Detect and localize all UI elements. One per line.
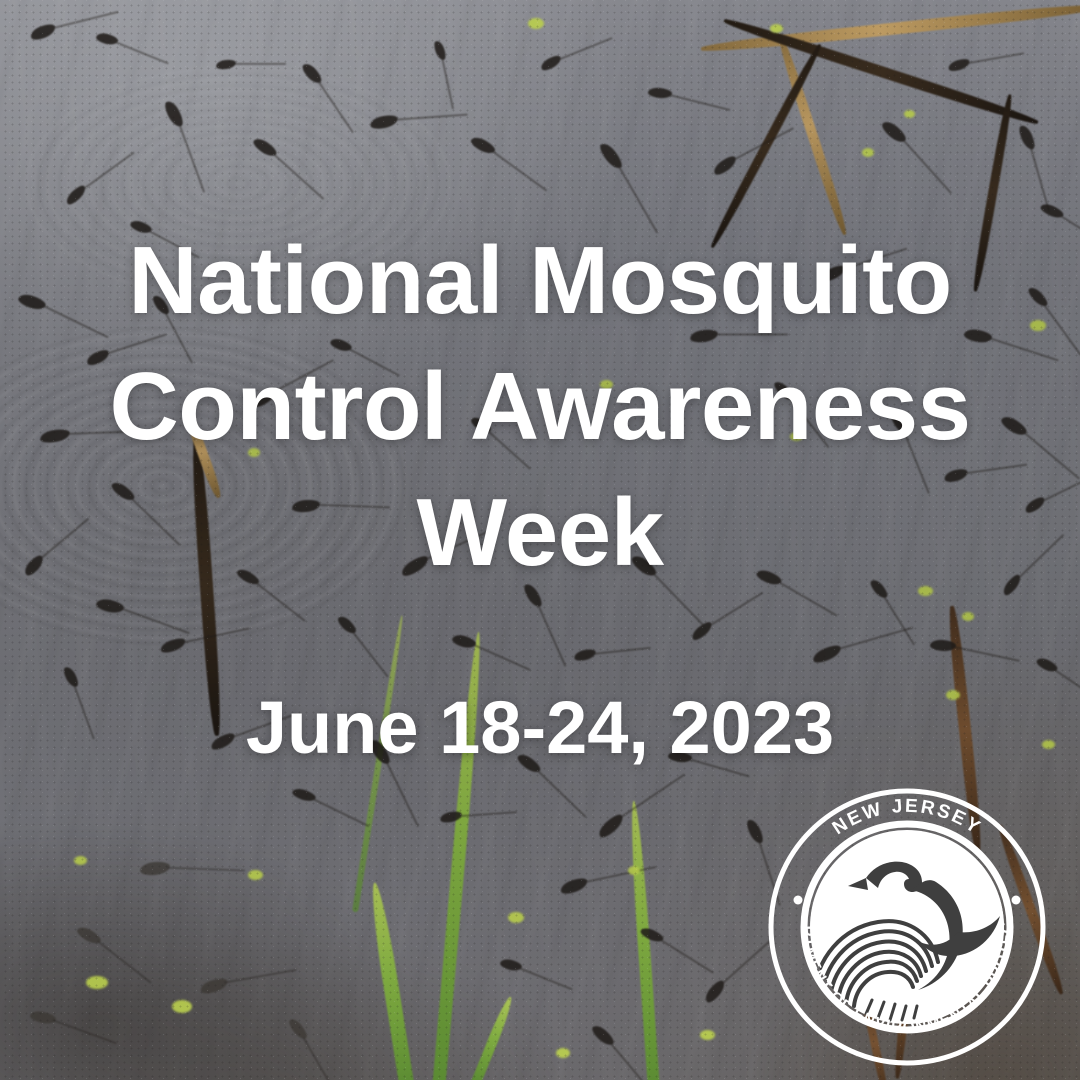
headline-line-1: National Mosquito: [0, 218, 1080, 344]
seal-dot-left: [794, 896, 803, 905]
poster-canvas: National Mosquito Control Awareness Week…: [0, 0, 1080, 1080]
headline-line-2: Control Awareness: [0, 344, 1080, 470]
headline-line-3: Week: [0, 470, 1080, 596]
headline: National Mosquito Control Awareness Week: [0, 218, 1080, 596]
nj-dep-seal-logo: NEW JERSEY DEPARTMENT OF ENVIRONMENTAL P…: [762, 782, 1052, 1072]
bird-eye: [893, 876, 899, 882]
seal-dot-right: [1012, 896, 1021, 905]
event-date: June 18-24, 2023: [0, 686, 1080, 770]
